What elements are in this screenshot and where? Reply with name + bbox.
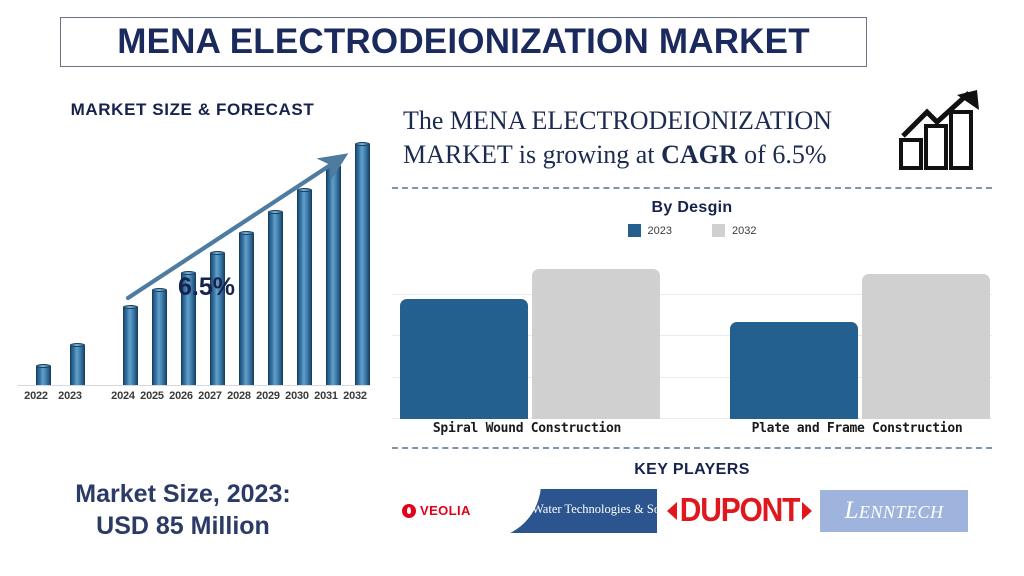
legend-item-2023: 2023	[628, 224, 672, 237]
growth-bars-arrow-icon	[899, 90, 985, 172]
bar-spiral-2023	[400, 299, 528, 419]
logo-dupont: DUPONT	[662, 487, 817, 535]
x-label-2032: 2032	[335, 390, 375, 402]
bar-2030	[297, 190, 312, 385]
bar-spiral-2032	[532, 269, 660, 419]
bar-2024	[123, 307, 138, 385]
headline-cagr-emphasis: CAGR	[661, 140, 738, 169]
market-size-forecast-chart: MARKET SIZE & FORECAST 2022 2023 2024 20…	[0, 90, 385, 450]
headline-statement: The MENA ELECTRODEIONIZATION MARKET is g…	[403, 104, 903, 173]
by-design-legend: 2023 2032	[392, 224, 992, 237]
infographic-page: MENA ELECTRODEIONIZATION MARKET MARKET S…	[0, 0, 1024, 576]
x-label-plate-frame: Plate and Frame Construction	[722, 421, 992, 436]
bar-2028	[239, 233, 254, 385]
key-players-title: KEY PLAYERS	[392, 461, 992, 479]
headline-line-2c: of	[738, 140, 773, 169]
logo-veolia: VEOLIA Water Technologies & Solutions	[372, 489, 657, 533]
key-players-logos: VEOLIA Water Technologies & Solutions DU…	[372, 487, 992, 535]
bar-2025	[152, 290, 167, 385]
left-chart-title: MARKET SIZE & FORECAST	[0, 100, 385, 120]
caret-right-icon	[802, 502, 812, 520]
caret-left-icon	[667, 502, 677, 520]
cagr-annotation: 6.5%	[178, 273, 235, 302]
x-label-2023: 2023	[50, 390, 90, 402]
bar-2029	[268, 212, 283, 385]
veolia-wordmark: VEOLIA	[402, 503, 471, 518]
legend-item-2032: 2032	[712, 224, 756, 237]
veolia-tagline: Water Technologies & Solutions	[532, 502, 657, 517]
page-title-box: MENA ELECTRODEIONIZATION MARKET	[60, 17, 867, 67]
bar-2032	[355, 144, 370, 385]
by-design-plot-area	[392, 252, 992, 419]
by-design-title: By Desgin	[392, 199, 992, 217]
bar-plate-2032	[862, 274, 990, 419]
market-size-line-1: Market Size, 2023:	[8, 478, 358, 510]
left-chart-axis	[18, 385, 370, 386]
headline-line-1: The MENA ELECTRODEIONIZATION	[403, 106, 832, 135]
legend-swatch-2032	[712, 224, 725, 237]
bar-plate-2023	[730, 322, 858, 419]
bar-2022	[36, 366, 51, 385]
bar-2031	[326, 166, 341, 385]
veolia-word: VEOLIA	[420, 503, 471, 518]
x-label-spiral-wound: Spiral Wound Construction	[392, 421, 662, 436]
lenntech-word: Lenntech	[845, 497, 944, 525]
legend-label-2032: 2032	[732, 225, 756, 237]
legend-swatch-2023	[628, 224, 641, 237]
divider-top	[392, 187, 992, 189]
bar-2023	[70, 345, 85, 385]
page-title: MENA ELECTRODEIONIZATION MARKET	[117, 22, 810, 62]
left-chart-plot-area	[18, 132, 368, 385]
headline-line-2a: MARKET is growing at	[403, 140, 661, 169]
logo-lenntech: Lenntech	[820, 490, 968, 532]
dupont-word: DUPONT	[680, 492, 799, 530]
legend-label-2023: 2023	[648, 225, 672, 237]
headline-rate: 6.5%	[772, 140, 826, 169]
water-drop-icon	[402, 504, 416, 518]
market-size-callout: Market Size, 2023: USD 85 Million	[8, 478, 358, 542]
market-size-line-2: USD 85 Million	[8, 510, 358, 542]
divider-bottom	[392, 447, 992, 449]
